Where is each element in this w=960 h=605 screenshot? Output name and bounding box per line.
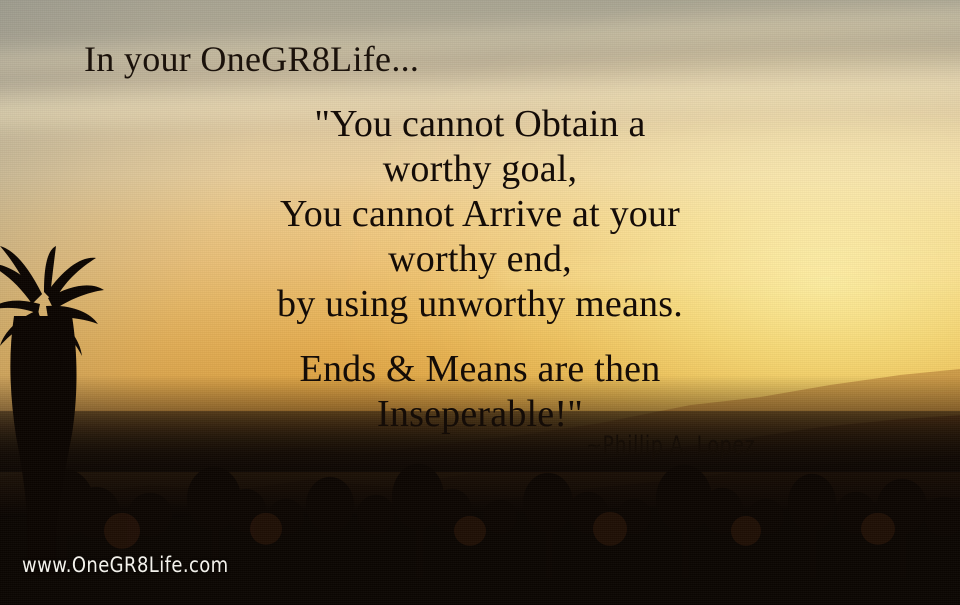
quote-closing-line-2: Inseperable!" bbox=[0, 392, 960, 437]
quote-line-4: worthy end, bbox=[0, 237, 960, 282]
attribution-signature: ~Phillip A. Lopez bbox=[586, 431, 755, 460]
quote-closing-line-1: Ends & Means are then bbox=[0, 347, 960, 392]
quote-paragraph-gap bbox=[0, 327, 960, 347]
quote-line-5: by using unworthy means. bbox=[0, 282, 960, 327]
quote-image-canvas: In your OneGR8Life... "You cannot Obtain… bbox=[0, 0, 960, 605]
quote-line-2: worthy goal, bbox=[0, 147, 960, 192]
website-watermark: www.OneGR8Life.com bbox=[22, 553, 229, 578]
quote-line-1: "You cannot Obtain a bbox=[0, 102, 960, 147]
text-overlay: In your OneGR8Life... "You cannot Obtain… bbox=[0, 0, 960, 605]
quote-block: "You cannot Obtain a worthy goal, You ca… bbox=[0, 102, 960, 437]
intro-line: In your OneGR8Life... bbox=[84, 40, 419, 80]
quote-line-3: You cannot Arrive at your bbox=[0, 192, 960, 237]
